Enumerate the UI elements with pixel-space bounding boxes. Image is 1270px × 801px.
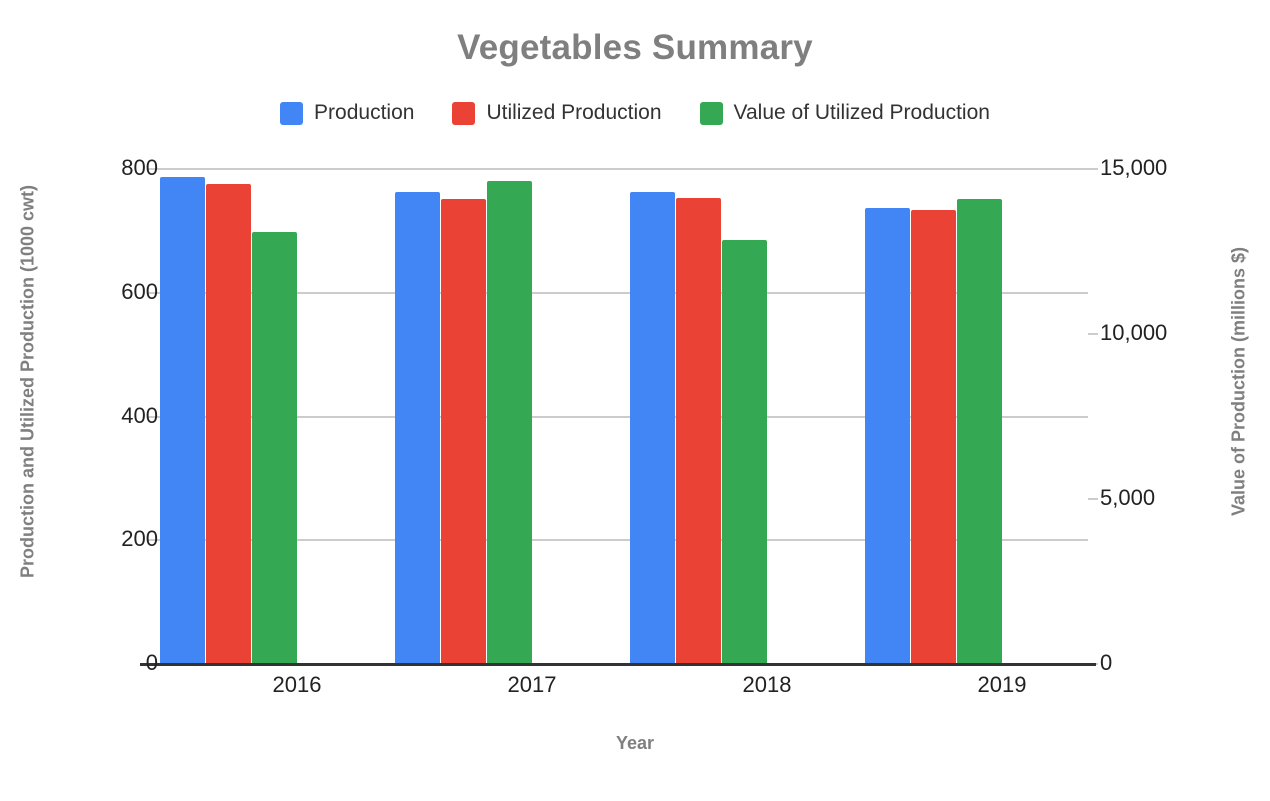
- y-axis-left-title: Production and Utilized Production (1000…: [18, 102, 39, 662]
- bar-2019-production[interactable]: [865, 208, 910, 663]
- bar-2017-utilized-production[interactable]: [441, 199, 486, 663]
- y-tick-label-right-0: 0: [1100, 650, 1230, 676]
- legend-label-2: Value of Utilized Production: [734, 101, 990, 125]
- tick-right-10000: [1088, 333, 1098, 335]
- legend-label-1: Utilized Production: [486, 101, 661, 125]
- bar-2018-value-of-utilized-production[interactable]: [722, 240, 767, 663]
- chart-title: Vegetables Summary: [0, 28, 1270, 68]
- chart-container: Vegetables Summary ProductionUtilized Pr…: [0, 0, 1270, 801]
- legend-item-0[interactable]: Production: [280, 101, 414, 125]
- y-tick-label-right-15000: 15,000: [1100, 155, 1230, 181]
- bar-2018-utilized-production[interactable]: [676, 198, 721, 663]
- bar-2016-utilized-production[interactable]: [206, 184, 251, 663]
- x-tick-label-2019: 2019: [902, 672, 1102, 698]
- bar-2019-value-of-utilized-production[interactable]: [957, 199, 1002, 663]
- x-tick-label-2018: 2018: [667, 672, 867, 698]
- legend-item-1[interactable]: Utilized Production: [452, 101, 661, 125]
- bar-2018-production[interactable]: [630, 192, 675, 663]
- x-tick-label-2017: 2017: [432, 672, 632, 698]
- bar-2016-production[interactable]: [160, 177, 205, 663]
- x-axis-line: [140, 663, 1096, 666]
- y-tick-label-left-0: 0: [68, 650, 158, 676]
- bar-2019-utilized-production[interactable]: [911, 210, 956, 663]
- legend-item-2[interactable]: Value of Utilized Production: [700, 101, 990, 125]
- legend-swatch-production: [280, 102, 303, 125]
- bar-2017-production[interactable]: [395, 192, 440, 663]
- bar-group-2019: [865, 168, 1002, 663]
- bar-2017-value-of-utilized-production[interactable]: [487, 181, 532, 663]
- tick-right-15000: [1088, 168, 1098, 170]
- legend-swatch-value-of-utilized-production: [700, 102, 723, 125]
- y-axis-right-title: Value of Production (millions $): [1229, 132, 1250, 632]
- legend-swatch-utilized-production: [452, 102, 475, 125]
- bar-group-2018: [630, 168, 767, 663]
- bar-2016-value-of-utilized-production[interactable]: [252, 232, 297, 663]
- bar-group-2017: [395, 168, 532, 663]
- y-tick-label-left-600: 600: [68, 279, 158, 305]
- x-tick-label-2016: 2016: [197, 672, 397, 698]
- y-tick-label-left-400: 400: [68, 403, 158, 429]
- legend-label-0: Production: [314, 101, 414, 125]
- x-axis-title: Year: [0, 733, 1270, 754]
- y-tick-label-right-5000: 5,000: [1100, 485, 1230, 511]
- plot-area: [148, 168, 1088, 663]
- y-tick-label-right-10000: 10,000: [1100, 320, 1230, 346]
- y-tick-label-left-200: 200: [68, 526, 158, 552]
- chart-legend: ProductionUtilized ProductionValue of Ut…: [0, 101, 1270, 125]
- y-tick-label-left-800: 800: [68, 155, 158, 181]
- tick-right-5000: [1088, 498, 1098, 500]
- bar-group-2016: [160, 168, 297, 663]
